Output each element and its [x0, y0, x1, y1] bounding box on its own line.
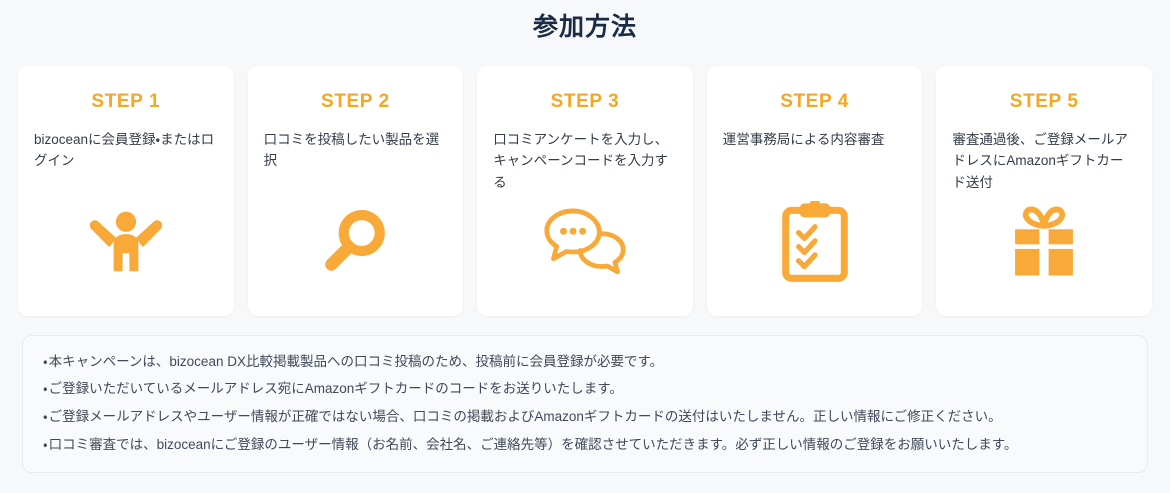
gift-box-icon	[998, 196, 1090, 288]
step-text-2: 口コミを投稿したい製品を選択	[264, 129, 448, 173]
note-bullet: ・	[43, 409, 48, 424]
step-card-5: STEP 5 審査通過後、ご登録メールアドレスにAmazonギフトカード送付	[936, 66, 1152, 316]
person-raised-arms-icon	[80, 196, 172, 288]
step-label-5: STEP 5	[1010, 91, 1079, 113]
note-text-1: 本キャンペーンは、bizocean DX比較掲載製品への口コミ投稿のため、投稿前…	[49, 354, 664, 369]
steps-row: STEP 1 bizoceanに会員登録・またはログイン STEP 2 口コミを…	[0, 44, 1170, 316]
note-line-2: ・ご登録いただいているメールアドレス宛にAmazonギフトカードのコードをお送り…	[43, 375, 1127, 403]
step-text-1: bizoceanに会員登録・またはログイン	[34, 129, 218, 173]
step-card-2: STEP 2 口コミを投稿したい製品を選択	[248, 66, 464, 316]
note-bullet: ・	[43, 437, 48, 452]
note-line-3: ・ご登録メールアドレスやユーザー情報が正確ではない場合、口コミの掲載およびAma…	[43, 403, 1127, 431]
step-card-3: STEP 3 口コミアンケートを入力し、キャンペーンコードを入力する	[477, 66, 693, 316]
step-card-1: STEP 1 bizoceanに会員登録・またはログイン	[18, 66, 234, 316]
step-text-5: 審査通過後、ご登録メールアドレスにAmazonギフトカード送付	[952, 129, 1136, 195]
note-line-1: ・本キャンペーンは、bizocean DX比較掲載製品への口コミ投稿のため、投稿…	[43, 348, 1127, 376]
clipboard-checklist-icon	[769, 196, 861, 288]
note-text-2: ご登録いただいているメールアドレス宛にAmazonギフトカードのコードをお送りい…	[49, 381, 623, 396]
note-line-4: ・口コミ審査では、bizoceanにご登録のユーザー情報（お名前、会社名、ご連絡…	[43, 431, 1127, 459]
note-text-4: 口コミ審査では、bizoceanにご登録のユーザー情報（お名前、会社名、ご連絡先…	[49, 437, 1018, 452]
note-bullet: ・	[43, 354, 48, 369]
step-label-4: STEP 4	[780, 91, 849, 113]
step-card-4: STEP 4 運営事務局による内容審査	[707, 66, 923, 316]
magnifying-glass-icon	[309, 196, 401, 288]
participation-steps-page: 参加方法 STEP 1 bizoceanに会員登録・またはログイン STEP 2…	[0, 0, 1170, 493]
chat-bubbles-icon	[539, 196, 631, 288]
page-title: 参加方法	[0, 0, 1170, 44]
step-text-3: 口コミアンケートを入力し、キャンペーンコードを入力する	[493, 129, 677, 195]
step-label-2: STEP 2	[321, 91, 390, 113]
note-bullet: ・	[43, 381, 48, 396]
step-text-4: 運営事務局による内容審査	[723, 129, 907, 151]
step-label-1: STEP 1	[91, 91, 160, 113]
step-label-3: STEP 3	[551, 91, 620, 113]
note-text-3: ご登録メールアドレスやユーザー情報が正確ではない場合、口コミの掲載およびAmaz…	[49, 409, 1002, 424]
notes-box: ・本キャンペーンは、bizocean DX比較掲載製品への口コミ投稿のため、投稿…	[22, 335, 1148, 474]
